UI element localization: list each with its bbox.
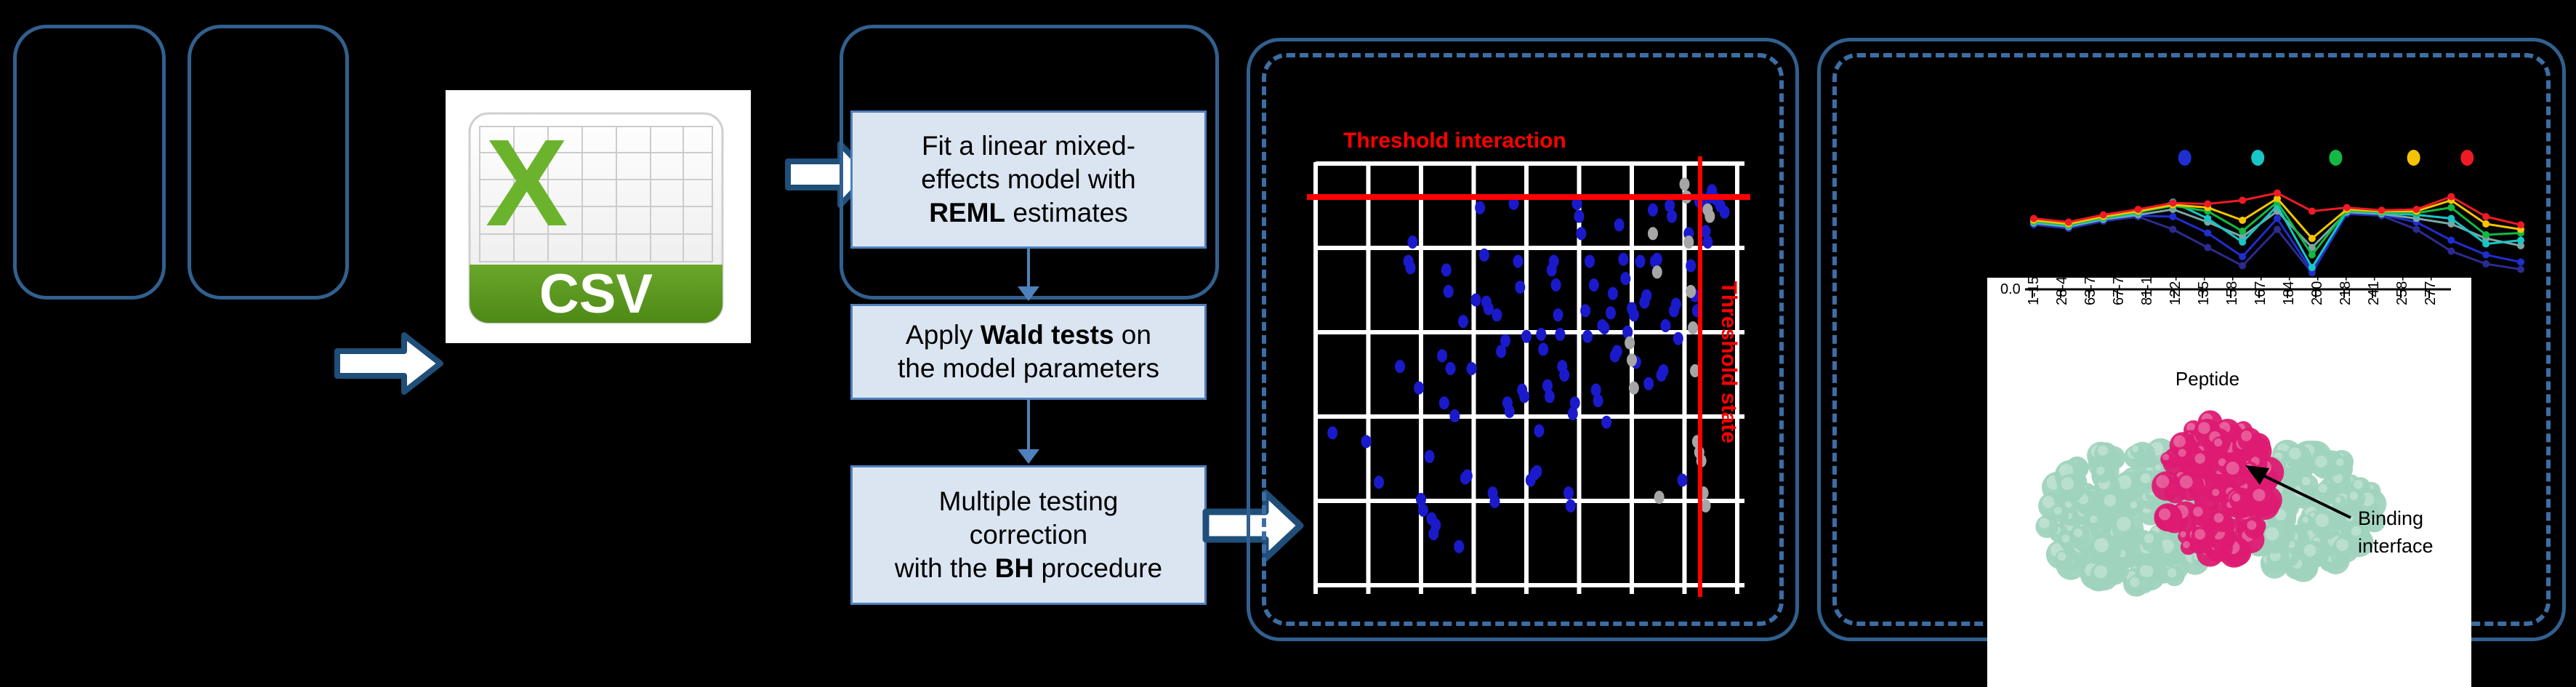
peptide-tick-label: 167-180	[2253, 278, 2269, 305]
scatter-point-blue	[1374, 475, 1384, 489]
binding-interface-label-line1: Binding	[2358, 507, 2423, 529]
point-series-red	[2517, 221, 2524, 228]
point-series-cyan	[2517, 237, 2524, 244]
results-image-card[interactable]: 0.01-1528-4463-7367-7581-101122-129135-1…	[1987, 278, 2471, 687]
point-series-yellow	[2309, 235, 2316, 242]
scatter-point-blue	[1444, 285, 1454, 298]
scatter-point-blue	[1593, 394, 1603, 407]
point-series-blue	[2447, 237, 2455, 244]
scatter-point-blue	[1406, 261, 1416, 274]
step-model-line1: Fit a linear mixed-	[922, 131, 1135, 161]
scatter-point-blue	[1441, 263, 1452, 276]
connector-head-wald	[1018, 286, 1039, 301]
step-correction-line3-post: procedure	[1034, 553, 1162, 583]
connector-model-to-wald	[1027, 249, 1030, 289]
step-model-box[interactable]: Fit a linear mixed- effects model with R…	[850, 111, 1207, 249]
scatter-point-blue	[1425, 450, 1435, 463]
scatter-point-blue	[1462, 470, 1473, 483]
point-series-red	[2343, 204, 2351, 212]
scatter-point-blue	[1534, 425, 1544, 438]
scatter-point-grey	[1629, 382, 1639, 395]
scatter-point-blue	[1580, 304, 1590, 317]
point-series-cyan	[2447, 215, 2455, 222]
scatter-point-grey	[1683, 236, 1694, 249]
point-series-blue	[2517, 259, 2524, 266]
scatter-point-blue	[1566, 499, 1576, 513]
peptide-tick-label: 158-166	[2224, 278, 2240, 305]
point-series-cyan	[2482, 241, 2490, 248]
point-series-green	[2239, 228, 2246, 235]
scatter-point-blue	[1673, 332, 1683, 345]
scatter-point-blue	[1407, 236, 1417, 249]
arrow-input-to-csv	[334, 331, 443, 396]
point-series-blue	[2274, 215, 2281, 222]
peptide-tick-label: 1-15	[2026, 278, 2042, 305]
point-series-red	[2274, 190, 2281, 197]
peptide-tick-label: 277-284	[2423, 278, 2439, 305]
scatter-point-blue	[1555, 328, 1565, 341]
scatter-point-blue	[1549, 255, 1559, 268]
scatter-point-grey	[1654, 491, 1665, 504]
scatter-point-blue	[1660, 319, 1670, 332]
scatter-point-blue	[1582, 330, 1593, 343]
scatter-point-blue	[1641, 289, 1651, 302]
scatter-point-blue	[1418, 504, 1428, 517]
point-series-green	[2309, 252, 2316, 259]
step-model-bold: REML	[929, 198, 1005, 228]
scatter-point-blue	[1458, 315, 1468, 328]
csv-file-panel[interactable]	[188, 25, 349, 300]
point-series-red	[2065, 219, 2072, 226]
legend-dot	[2251, 150, 2264, 166]
peptide-tick-label: 67-75	[2111, 278, 2127, 305]
scatter-point-grey	[1625, 337, 1635, 350]
volcano-plot[interactable]: Threshold interactionThreshold state	[1301, 127, 1752, 600]
scatter-point-blue	[1652, 253, 1662, 266]
csv-file-icon[interactable]: X CSV	[465, 109, 727, 327]
threshold-interaction-label: Threshold interaction	[1343, 129, 1566, 153]
scatter-point-grey	[1686, 285, 1696, 298]
scatter-point-blue	[1585, 255, 1595, 268]
scatter-point-blue	[1635, 255, 1646, 268]
point-series-red	[2030, 215, 2037, 222]
point-series-yellow	[2239, 217, 2246, 224]
scatter-point-blue	[1606, 306, 1616, 319]
scatter-point-blue	[1437, 349, 1447, 362]
connector-head-correction	[1018, 449, 1039, 464]
scatter-point-blue	[1490, 495, 1500, 508]
scatter-point-blue	[1576, 227, 1586, 240]
scatter-point-blue	[1671, 298, 1681, 311]
scatter-point-blue	[1513, 255, 1523, 268]
scatter-point-blue	[1361, 435, 1372, 448]
scatter-point-blue	[1521, 330, 1531, 343]
scatter-point-blue	[1500, 334, 1510, 347]
step-wald-box[interactable]: Apply Wald tests on the model parameters	[850, 304, 1207, 400]
scatter-point-blue	[1532, 465, 1542, 478]
scatter-point-blue	[1327, 427, 1337, 440]
scatter-point-blue	[1608, 287, 1618, 300]
peptide-line-chart[interactable]	[2013, 142, 2544, 284]
scatter-point-blue	[1395, 360, 1405, 373]
step-model-line2: effects model with	[921, 164, 1135, 194]
scatter-point-blue	[1454, 540, 1464, 553]
scatter-point-grey	[1688, 321, 1698, 334]
scatter-point-blue	[1620, 272, 1630, 285]
point-series-navy	[2274, 226, 2281, 233]
step-correction-line2: correction	[970, 520, 1087, 550]
scatter-point-blue	[1553, 308, 1563, 321]
point-series-red	[2169, 199, 2176, 206]
scatter-point-blue	[1574, 210, 1585, 223]
peptide-tick-label: 200-214	[2309, 278, 2325, 305]
scatter-point-grey	[1652, 265, 1662, 278]
point-series-yellow	[2482, 220, 2490, 228]
connector-wald-to-correction	[1027, 400, 1030, 452]
scatter-point-blue	[1659, 364, 1669, 377]
scatter-point-grey	[1627, 353, 1637, 366]
point-series-red	[2135, 206, 2142, 213]
scatter-point-blue	[1470, 294, 1481, 307]
point-series-navy	[2169, 226, 2176, 233]
point-series-green	[2482, 231, 2490, 238]
point-series-navy	[2482, 260, 2490, 268]
point-series-blue	[2482, 252, 2490, 259]
scatter-point-blue	[1601, 416, 1611, 429]
point-series-red	[2482, 213, 2490, 220]
scatter-point-blue	[1614, 218, 1625, 231]
point-series-blue	[2169, 213, 2176, 220]
step-model-line3-post: estimates	[1005, 198, 1128, 228]
excel-x-letter: X	[486, 114, 568, 252]
peptide-axis-title: Peptide	[2175, 368, 2239, 390]
step-correction-bold: BH	[995, 553, 1034, 583]
y-axis-tick-label: 0.0	[2000, 281, 2021, 297]
scatter-point-blue	[1702, 236, 1712, 249]
legend-dot	[2460, 150, 2474, 166]
scatter-point-blue	[1538, 343, 1548, 356]
scatter-point-blue	[1536, 328, 1546, 341]
scatter-point-blue	[1430, 518, 1441, 531]
peptide-tick-label: 218-237	[2338, 278, 2354, 305]
point-series-cyan	[2204, 215, 2211, 222]
point-series-red	[2378, 206, 2386, 214]
step-correction-box[interactable]: Multiple testing correction with the BH …	[850, 465, 1207, 605]
input-data-panel[interactable]	[13, 25, 166, 300]
scatter-point-blue	[1439, 396, 1449, 409]
peptide-tick-label: 122-129	[2168, 278, 2183, 305]
scatter-point-blue	[1720, 206, 1730, 219]
scatter-point-blue	[1505, 405, 1515, 418]
scatter-point-blue	[1648, 204, 1658, 217]
binding-interface-label-line2: interface	[2358, 535, 2434, 557]
scatter-point-grey	[1648, 227, 1658, 240]
point-series-red	[2204, 201, 2211, 208]
point-series-red	[2100, 212, 2107, 219]
scatter-point-blue	[1551, 278, 1561, 292]
step-wald-bold: Wald tests	[981, 320, 1114, 350]
peptide-tick-label: 63-73	[2082, 278, 2098, 305]
scatter-point-blue	[1467, 362, 1477, 375]
step-wald-line3-post: on	[1114, 320, 1151, 350]
peptide-tick-label: 241-257	[2366, 278, 2382, 305]
flowchart-canvas: X CSV Fit a linear mixed- effects model …	[0, 0, 2576, 687]
peptide-tick-label: 258-266	[2394, 278, 2410, 305]
point-series-red	[2239, 197, 2246, 204]
scatter-point-blue	[1479, 249, 1489, 262]
point-series-blue	[2239, 253, 2246, 260]
peptide-tick-label: 28-44	[2054, 278, 2070, 305]
legend-dot	[2329, 150, 2342, 166]
scatter-point-blue	[1643, 377, 1654, 390]
point-series-red	[2447, 193, 2455, 201]
scatter-point-blue	[1589, 278, 1599, 292]
scatter-point-blue	[1414, 382, 1424, 395]
scatter-point-blue	[1599, 321, 1609, 334]
scatter-point-blue	[1519, 390, 1529, 403]
point-series-red	[2412, 206, 2420, 213]
scatter-point-blue	[1678, 473, 1688, 486]
csv-label: CSV	[539, 263, 653, 325]
scatter-point-blue	[1446, 362, 1456, 375]
legend-dot	[2178, 150, 2191, 166]
scatter-point-blue	[1449, 409, 1460, 422]
scatter-point-blue	[1545, 390, 1555, 403]
point-series-green	[2447, 204, 2455, 212]
step-wald-line3-pre: Apply	[906, 320, 981, 350]
scatter-point-blue	[1667, 210, 1677, 223]
point-series-blue	[2204, 230, 2211, 237]
scatter-point-blue	[1570, 396, 1580, 409]
step-correction-line1: Multiple testing	[939, 486, 1119, 516]
scatter-point-blue	[1563, 486, 1574, 499]
threshold-state-label: Threshold state	[1717, 281, 1741, 443]
scatter-point-grey	[1704, 210, 1715, 223]
scatter-point-blue	[1492, 308, 1502, 321]
point-series-navy	[2447, 248, 2455, 255]
point-series-cyan	[2309, 264, 2316, 271]
peptide-tick-label: 184-199	[2281, 278, 2297, 305]
scatter-point-blue	[1612, 345, 1622, 358]
step-wald-line4: the model parameters	[898, 353, 1159, 383]
point-series-navy	[2239, 262, 2246, 270]
peptide-tick-label: 135-144	[2196, 278, 2212, 305]
scatter-point-grey	[1680, 177, 1690, 190]
peptide-tick-label: 81-101	[2139, 278, 2155, 305]
scatter-point-blue	[1618, 253, 1628, 266]
point-series-red	[2309, 208, 2316, 215]
scatter-point-blue	[1515, 281, 1525, 294]
point-series-navy	[2517, 266, 2524, 273]
point-series-cyan	[2239, 238, 2246, 246]
point-series-navy	[2204, 244, 2211, 252]
scatter-point-blue	[1686, 259, 1696, 272]
scatter-point-blue	[1475, 201, 1485, 214]
step-correction-line3-pre: with the	[895, 553, 995, 583]
point-series-navy	[2412, 226, 2420, 233]
scatter-point-blue	[1629, 308, 1639, 321]
legend-dot	[2407, 150, 2420, 166]
scatter-point-blue	[1559, 369, 1569, 382]
